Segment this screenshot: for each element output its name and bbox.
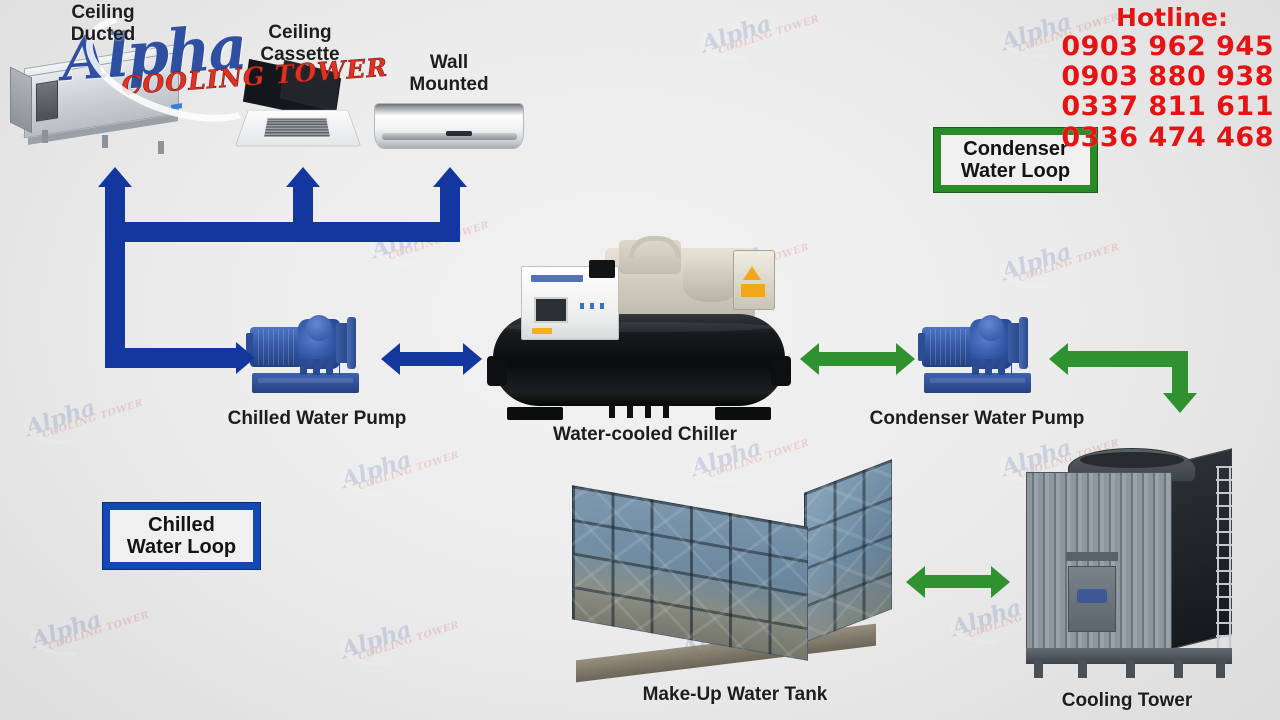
watermark-primary-text: Alpha [339, 604, 459, 661]
condenser-loop-label-line2: Water Loop [961, 160, 1070, 182]
watermark-secondary-text: COOLING TOWER [48, 611, 151, 652]
chilled-return-to-pump-run [105, 348, 238, 368]
watermark-secondary-text: COOLING TOWER [358, 451, 461, 492]
label-make-up-water-tank: Make-Up Water Tank [610, 684, 860, 706]
condenser-return-vertical [1172, 351, 1188, 394]
hotline-title: Hotline: [1061, 4, 1228, 32]
chilled-water-loop-badge: Chilled Water Loop [103, 503, 260, 569]
chilled-pump-to-chiller-arrowhead-right [463, 343, 482, 375]
label-line2: Ducted [48, 24, 158, 46]
chilled-loop-label-line2: Water Loop [127, 536, 236, 558]
hotline-number-2[interactable]: 0903 880 938 [1061, 62, 1274, 92]
watermark-primary-text: Alpha [339, 434, 459, 491]
chilled-pump-to-chiller-arrowhead-left [381, 343, 400, 375]
watermark-secondary-text: COOLING TOWER [42, 399, 145, 440]
hotline-number-1[interactable]: 0903 962 945 [1061, 32, 1274, 62]
condenser-chiller-to-pump-arrowhead-right [896, 343, 915, 375]
water-cooled-chiller-image [493, 240, 785, 420]
chilled-loop-label-line1: Chilled [127, 514, 236, 536]
chiller-system-diagram: AlphaCOOLING TOWER AlphaCOOLING TOWER Al… [0, 0, 1280, 720]
chilled-riser-3 [440, 185, 460, 233]
label-line2: Cassette [240, 44, 360, 66]
watermark-primary-text: Alpha [29, 594, 149, 651]
chilled-riser-2-arrowhead [286, 167, 320, 187]
label-wall-mounted: Wall Mounted [390, 52, 508, 96]
condenser-water-pump-image [920, 305, 1035, 393]
chilled-water-pump-image [248, 305, 363, 393]
chilled-water-manifold [105, 222, 460, 242]
label-line1: Ceiling [240, 22, 360, 44]
label-line2: Mounted [390, 74, 508, 96]
watermark-primary-text: Alpha [999, 226, 1119, 283]
hotline-number-4[interactable]: 0336 474 468 [1061, 123, 1274, 153]
chilled-pump-to-chiller-shaft [396, 352, 466, 366]
condenser-loop-label-line1: Condenser [961, 138, 1070, 160]
watermark-primary-text: Alpha [23, 382, 143, 439]
chilled-riser-1-arrowhead [98, 167, 132, 187]
label-cooling-tower: Cooling Tower [1032, 690, 1222, 712]
chilled-riser-1 [105, 185, 125, 233]
watermark-primary-text: Alpha [699, 0, 819, 55]
label-water-cooled-chiller: Water-cooled Chiller [540, 424, 750, 446]
chilled-riser-2 [293, 185, 313, 233]
tank-to-tower-shaft [922, 575, 994, 588]
condenser-return-arrowhead-left [1049, 343, 1068, 375]
wall-mounted-unit-image [374, 103, 524, 149]
condenser-chiller-to-pump-arrowhead-left [800, 343, 819, 375]
label-ceiling-ducted: Ceiling Ducted [48, 2, 158, 46]
condenser-return-horizontal [1065, 351, 1188, 367]
watermark-secondary-text: COOLING TOWER [718, 15, 821, 56]
label-ceiling-cassette: Ceiling Cassette [240, 22, 360, 66]
hotline-number-3[interactable]: 0337 811 611 [1061, 92, 1274, 122]
tank-to-tower-arrowhead-left [906, 566, 925, 598]
label-condenser-water-pump: Condenser Water Pump [860, 408, 1094, 430]
ceiling-ducted-unit-image [6, 42, 196, 152]
watermark-secondary-text: COOLING TOWER [1018, 243, 1121, 284]
watermark-secondary-text: COOLING TOWER [358, 621, 461, 662]
condenser-chiller-to-pump-shaft [815, 352, 899, 366]
label-line1: Ceiling [48, 2, 158, 24]
ceiling-cassette-unit-image [240, 66, 360, 158]
tank-to-tower-arrowhead-right [991, 566, 1010, 598]
hotline-block: Hotline: 0903 962 945 0903 880 938 0337 … [1061, 4, 1274, 153]
condenser-return-arrowhead-down [1163, 393, 1197, 413]
cooling-tower-image [1026, 448, 1236, 678]
chilled-return-to-pump-arrowhead [236, 342, 255, 374]
make-up-water-tank-image [572, 472, 892, 662]
chilled-riser-3-arrowhead [433, 167, 467, 187]
label-line1: Wall [390, 52, 508, 74]
label-chilled-water-pump: Chilled Water Pump [222, 408, 412, 430]
